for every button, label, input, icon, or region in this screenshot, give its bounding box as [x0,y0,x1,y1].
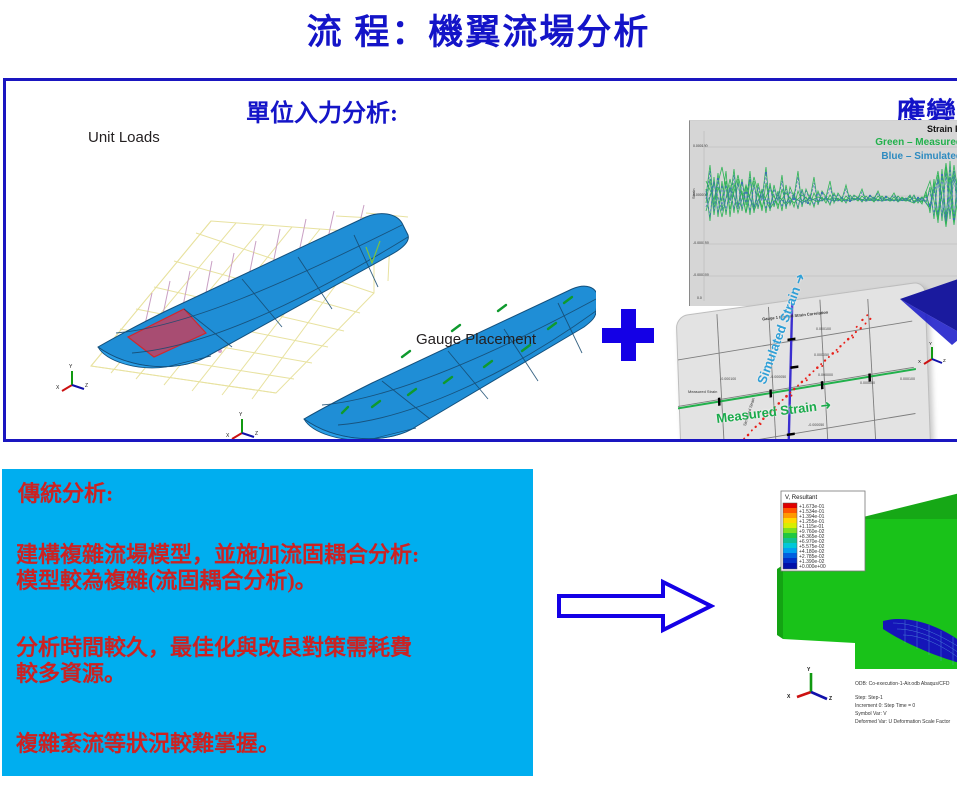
scatter-ytick: -0.000050 [808,423,824,427]
svg-text:X: X [918,359,921,364]
svg-text:Z: Z [255,431,258,437]
traditional-analysis-box: 傳統分析: 建構複雜流場模型，並施加流固耦合分析: 模型較為複雜(流固耦合分析)… [2,469,533,776]
unit-loads-panel: X Y Z X Y Z Unit Loads Gauge Placement 單… [3,78,957,442]
plus-icon [602,309,654,361]
svg-text:Y: Y [929,341,932,346]
traditional-analysis-heading: 傳統分析: [18,481,113,507]
scatter-ytick: 0.000100 [816,327,831,331]
cfd-legend-title: V, Resultant [785,495,817,501]
cfd-axis-z-label: Z [829,696,832,702]
cfd-result-figure: V, Resultant +1.673e-01 +1.534e-01 +1.39… [755,473,957,773]
svg-text:X: X [226,433,230,439]
cfd-annotation-step: Step: Step-1 [855,695,883,701]
scatter-xtick: 0.000050 [860,381,875,385]
scatter-ytick: 0.000050 [814,353,829,357]
traditional-analysis-paragraph-1: 建構複雜流場模型，並施加流固耦合分析: 模型較為複雜(流固耦合分析)。 [16,542,419,595]
svg-text:Z: Z [943,358,946,363]
page-title: 流 程：機翼流場分析 [0,4,957,55]
cfd-legend-values: +1.673e-01 +1.534e-01 +1.394e-01 +1.255e… [799,505,826,570]
unit-loads-heading: 單位入力分析: [246,93,398,128]
cfd-annotation-odb: ODB: Co-execution-1-Air.odb Abaqus/CFD [855,681,950,687]
svg-text:Y: Y [239,412,243,418]
flow-arrow-icon [555,578,715,634]
cfd-scene [755,473,957,773]
svg-text:Y: Y [69,364,73,370]
deformed-model-fragment: X Y Z [894,273,957,383]
gauge-placement-label: Gauge Placement [416,331,536,348]
cfd-annotation-deformed: Deformed Var: U Deformation Scale Factor [855,719,950,725]
wing-model-figure: X Y Z X Y Z [36,161,596,441]
unit-loads-label: Unit Loads [88,129,160,146]
traditional-analysis-paragraph-3: 複雜紊流等狀況較難掌握。 [16,731,280,757]
scatter-x-axis-label-small: Measured Strain [688,389,717,394]
traditional-analysis-paragraph-2: 分析時間較久，最佳化與改良對策需耗費 較多資源。 [16,635,412,688]
scatter-xtick: -0.000100 [720,377,736,381]
cfd-axis-x-label: X [787,694,790,700]
svg-text:Z: Z [85,383,88,389]
cfd-annotation-symbol: Symbol Var: V [855,711,887,717]
cfd-axis-y-label: Y [807,667,810,673]
svg-text:X: X [56,385,60,391]
cfd-annotation-increment: Increment 0: Step Time = 0 [855,703,915,709]
scatter-xtick: 0.000000 [818,373,833,377]
